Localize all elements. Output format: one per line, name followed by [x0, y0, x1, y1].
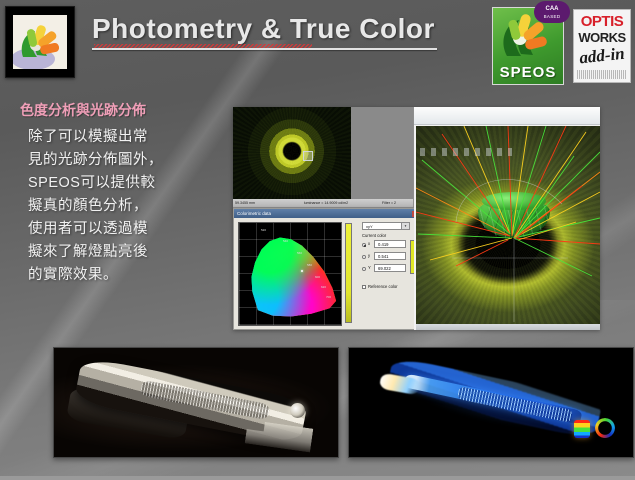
lamp-lit-falsecolor-ring: [595, 418, 615, 438]
3d-raytrace-window: [414, 107, 600, 330]
cie-chromaticity-diagram[interactable]: 520 540 560 580 600 620 700: [238, 222, 342, 326]
optis-logo-line2: WORKS: [574, 30, 630, 45]
title-underline: [92, 48, 437, 50]
value-row-x[interactable]: x 0.419: [362, 240, 408, 249]
reference-color-checkbox[interactable]: Reference color: [362, 284, 398, 289]
value-name-y: y: [368, 253, 370, 258]
body-paragraph: 除了可以模擬出常 見的光跡分佈圖外， SPEOS可以提供較 擬真的顏色分析， 使…: [28, 126, 222, 287]
luminance-map-image: [233, 107, 351, 199]
cie-tick-label: 540: [283, 240, 288, 243]
checkbox-icon[interactable]: [362, 285, 366, 289]
colorimetric-data-dialog[interactable]: Colorimetric data × 520 540 560 580 600 …: [233, 208, 421, 330]
caa-badge-sub: BASED: [534, 13, 570, 21]
slide-bottom-edge: [0, 476, 635, 480]
optis-works-logo: OPTIS WORKS add-in: [573, 9, 631, 83]
body-line: 擬真的顏色分析，: [28, 195, 222, 218]
speos-icon-svg: [13, 15, 67, 69]
body-line: 使用者可以透過模: [28, 218, 222, 241]
body-line: 除了可以模擬出常: [28, 126, 222, 149]
luminance-color-bar: [345, 223, 352, 323]
value-field-y[interactable]: 0.541: [374, 252, 406, 260]
radio-Y[interactable]: [362, 267, 366, 271]
optis-logo-line3: add-in: [573, 43, 631, 69]
luminance-status-bar: 59.3455 mmluminance = 14.9009 cd/m2Filte…: [233, 199, 413, 207]
color-space-value: xyY: [366, 224, 373, 229]
value-row-y[interactable]: y 0.541: [362, 252, 408, 261]
3d-raytrace-view[interactable]: [416, 126, 600, 330]
status-luminance: luminance = 14.9009 cd/m2: [283, 199, 369, 207]
radio-x[interactable]: [362, 243, 366, 247]
reference-color-label: Reference color: [368, 284, 398, 289]
cie-tick-label: 560: [297, 252, 302, 255]
value-field-Y[interactable]: 69.022: [374, 264, 406, 272]
status-filter: Filter = 2: [369, 199, 409, 207]
cie-tick-label: 580: [307, 264, 312, 267]
lamp-lit-falsecolor-patch: [574, 420, 590, 438]
caa-v5-badge: CAABASED: [534, 1, 570, 23]
value-field-x[interactable]: 0.419: [374, 240, 406, 248]
lamp-off-lens: [290, 403, 305, 418]
simulation-screenshot-panel: 59.3455 mmluminance = 14.9009 cd/m2Filte…: [233, 107, 600, 330]
body-line: 擬來了解燈點亮後: [28, 241, 222, 264]
slide-canvas: Photometry & True Color SPEOS CAABASED O…: [0, 0, 635, 480]
body-line: 的實際效果。: [28, 264, 222, 287]
cie-tick-label: 700: [326, 296, 331, 299]
status-position: 59.3455 mm: [233, 199, 283, 207]
title-block: Photometry & True Color: [92, 12, 452, 50]
colorimetric-controls: xyY ▾ Current color x 0.419 y 0.541 Y: [358, 222, 418, 327]
raytrace-title-bar: [414, 107, 600, 125]
speos-app-icon-art: [13, 15, 67, 69]
chevron-down-icon[interactable]: ▾: [401, 223, 409, 229]
luminance-probe-cursor: [303, 151, 313, 161]
cie-tick-label: 620: [321, 286, 326, 289]
text-column: 色度分析與光跡分佈 除了可以模擬出常 見的光跡分佈圖外， SPEOS可以提供較 …: [12, 100, 222, 287]
page-title: Photometry & True Color: [92, 12, 452, 46]
spellcheck-squiggle: [94, 44, 312, 48]
caa-badge-main: CAA: [546, 6, 559, 12]
value-name-Y: Y: [368, 265, 371, 270]
current-color-label: Current color: [362, 233, 386, 238]
value-row-Y[interactable]: Y 69.022: [362, 264, 408, 273]
slide-header: Photometry & True Color SPEOS CAABASED O…: [0, 0, 635, 92]
raytrace-toolbar-icons[interactable]: [420, 148, 512, 156]
dialog-title-bar: Colorimetric data ×: [234, 209, 420, 218]
body-line: SPEOS可以提供較: [28, 172, 222, 195]
speos-logo-text: SPEOS: [493, 64, 563, 81]
raytrace-bottom-bar: [416, 324, 600, 330]
value-name-x: x: [368, 241, 370, 246]
body-line: 見的光跡分佈圖外，: [28, 149, 222, 172]
color-space-select[interactable]: xyY ▾: [362, 222, 410, 230]
speos-app-icon: [5, 6, 75, 78]
optis-logo-fineprint: [577, 70, 627, 79]
section-subheading: 色度分析與光跡分佈: [20, 100, 222, 120]
optis-logo-line1: OPTIS: [574, 13, 630, 30]
luminance-map-window: 59.3455 mmluminance = 14.9009 cd/m2Filte…: [233, 107, 413, 207]
lamp-lit-false-color-render[interactable]: [348, 347, 634, 458]
lamp-off-render[interactable]: [53, 347, 339, 458]
cie-measured-point: [301, 270, 303, 272]
cie-tick-label: 520: [261, 229, 266, 232]
luminance-noise-overlay: [233, 107, 351, 199]
radio-y[interactable]: [362, 255, 366, 259]
ray-bundle: [416, 126, 600, 330]
dialog-title: Colorimetric data: [237, 211, 271, 216]
cie-tick-label: 600: [315, 276, 320, 279]
